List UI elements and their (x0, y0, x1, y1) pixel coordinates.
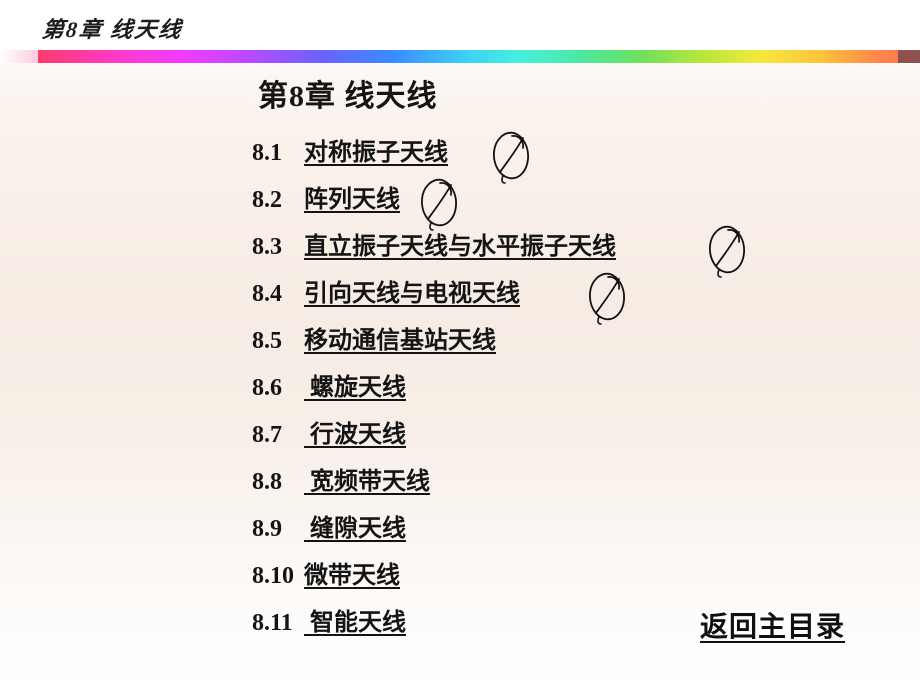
toc-item-number: 8.8 (252, 467, 304, 497)
toc-item-8-10[interactable]: 8.10微带天线 (252, 561, 400, 591)
toc-item-8-1[interactable]: 8.1对称振子天线 (252, 138, 448, 168)
toc-row: 8.9 缝隙天线 (252, 514, 872, 561)
rainbow-divider (0, 50, 920, 63)
toc-row: 8.6 螺旋天线 (252, 373, 872, 420)
toc-row: 8.7 行波天线 (252, 420, 872, 467)
toc-item-number: 8.2 (252, 185, 304, 215)
toc-item-number: 8.6 (252, 373, 304, 403)
toc-item-number: 8.11 (252, 608, 304, 638)
toc-item-number: 8.9 (252, 514, 304, 544)
toc-item-label: 移动通信基站天线 (304, 328, 496, 354)
toc-item-label: 螺旋天线 (304, 375, 406, 401)
toc-row: 8.10微带天线 (252, 561, 872, 608)
toc-item-8-4[interactable]: 8.4引向天线与电视天线 (252, 279, 520, 309)
toc-item-label: 行波天线 (304, 422, 406, 448)
toc-row: 8.5移动通信基站天线 (252, 326, 872, 373)
toc-item-number: 8.5 (252, 326, 304, 356)
toc-item-8-2[interactable]: 8.2阵列天线 (252, 185, 400, 215)
toc-item-label: 直立振子天线与水平振子天线 (304, 234, 616, 260)
toc-item-number: 8.7 (252, 420, 304, 450)
table-of-contents: 8.1对称振子天线8.2阵列天线8.3直立振子天线与水平振子天线8.4引向天线与… (252, 138, 872, 655)
toc-row: 8.8 宽频带天线 (252, 467, 872, 514)
toc-item-number: 8.4 (252, 279, 304, 309)
slide-canvas: 第8章 线天线 第8章 线天线 8.1对称振子天线8.2阵列天线8.3直立振子天… (0, 0, 920, 690)
rainbow-divider-band (38, 50, 900, 63)
handwritten-circle-slash-annotation (490, 128, 534, 184)
toc-item-8-11[interactable]: 8.11 智能天线 (252, 608, 406, 638)
header-chapter-label: 第8章 线天线 (41, 17, 184, 43)
toc-item-label: 缝隙天线 (304, 516, 406, 542)
toc-item-8-5[interactable]: 8.5移动通信基站天线 (252, 326, 496, 356)
toc-item-number: 8.10 (252, 561, 304, 591)
toc-item-8-6[interactable]: 8.6 螺旋天线 (252, 373, 406, 403)
toc-item-label: 引向天线与电视天线 (304, 281, 520, 307)
toc-row: 8.1对称振子天线 (252, 138, 872, 185)
toc-item-label: 对称振子天线 (304, 140, 448, 166)
toc-item-label: 宽频带天线 (304, 469, 430, 495)
toc-item-8-3[interactable]: 8.3直立振子天线与水平振子天线 (252, 232, 616, 262)
rainbow-divider-left-cap (0, 50, 42, 63)
toc-row: 8.2阵列天线 (252, 185, 872, 232)
page-title: 第8章 线天线 (258, 77, 438, 117)
toc-item-8-7[interactable]: 8.7 行波天线 (252, 420, 406, 450)
back-to-main-menu-link[interactable]: 返回主目录 (700, 610, 845, 646)
rainbow-divider-right-cap (898, 50, 920, 63)
toc-item-8-9[interactable]: 8.9 缝隙天线 (252, 514, 406, 544)
toc-row: 8.3直立振子天线与水平振子天线 (252, 232, 872, 279)
toc-item-number: 8.3 (252, 232, 304, 262)
toc-item-number: 8.1 (252, 138, 304, 168)
toc-item-8-8[interactable]: 8.8 宽频带天线 (252, 467, 430, 497)
toc-item-label: 智能天线 (304, 610, 406, 636)
toc-item-label: 微带天线 (304, 563, 400, 589)
slide-header-band: 第8章 线天线 (0, 0, 920, 50)
toc-item-label: 阵列天线 (304, 187, 400, 213)
toc-row: 8.4引向天线与电视天线 (252, 279, 872, 326)
